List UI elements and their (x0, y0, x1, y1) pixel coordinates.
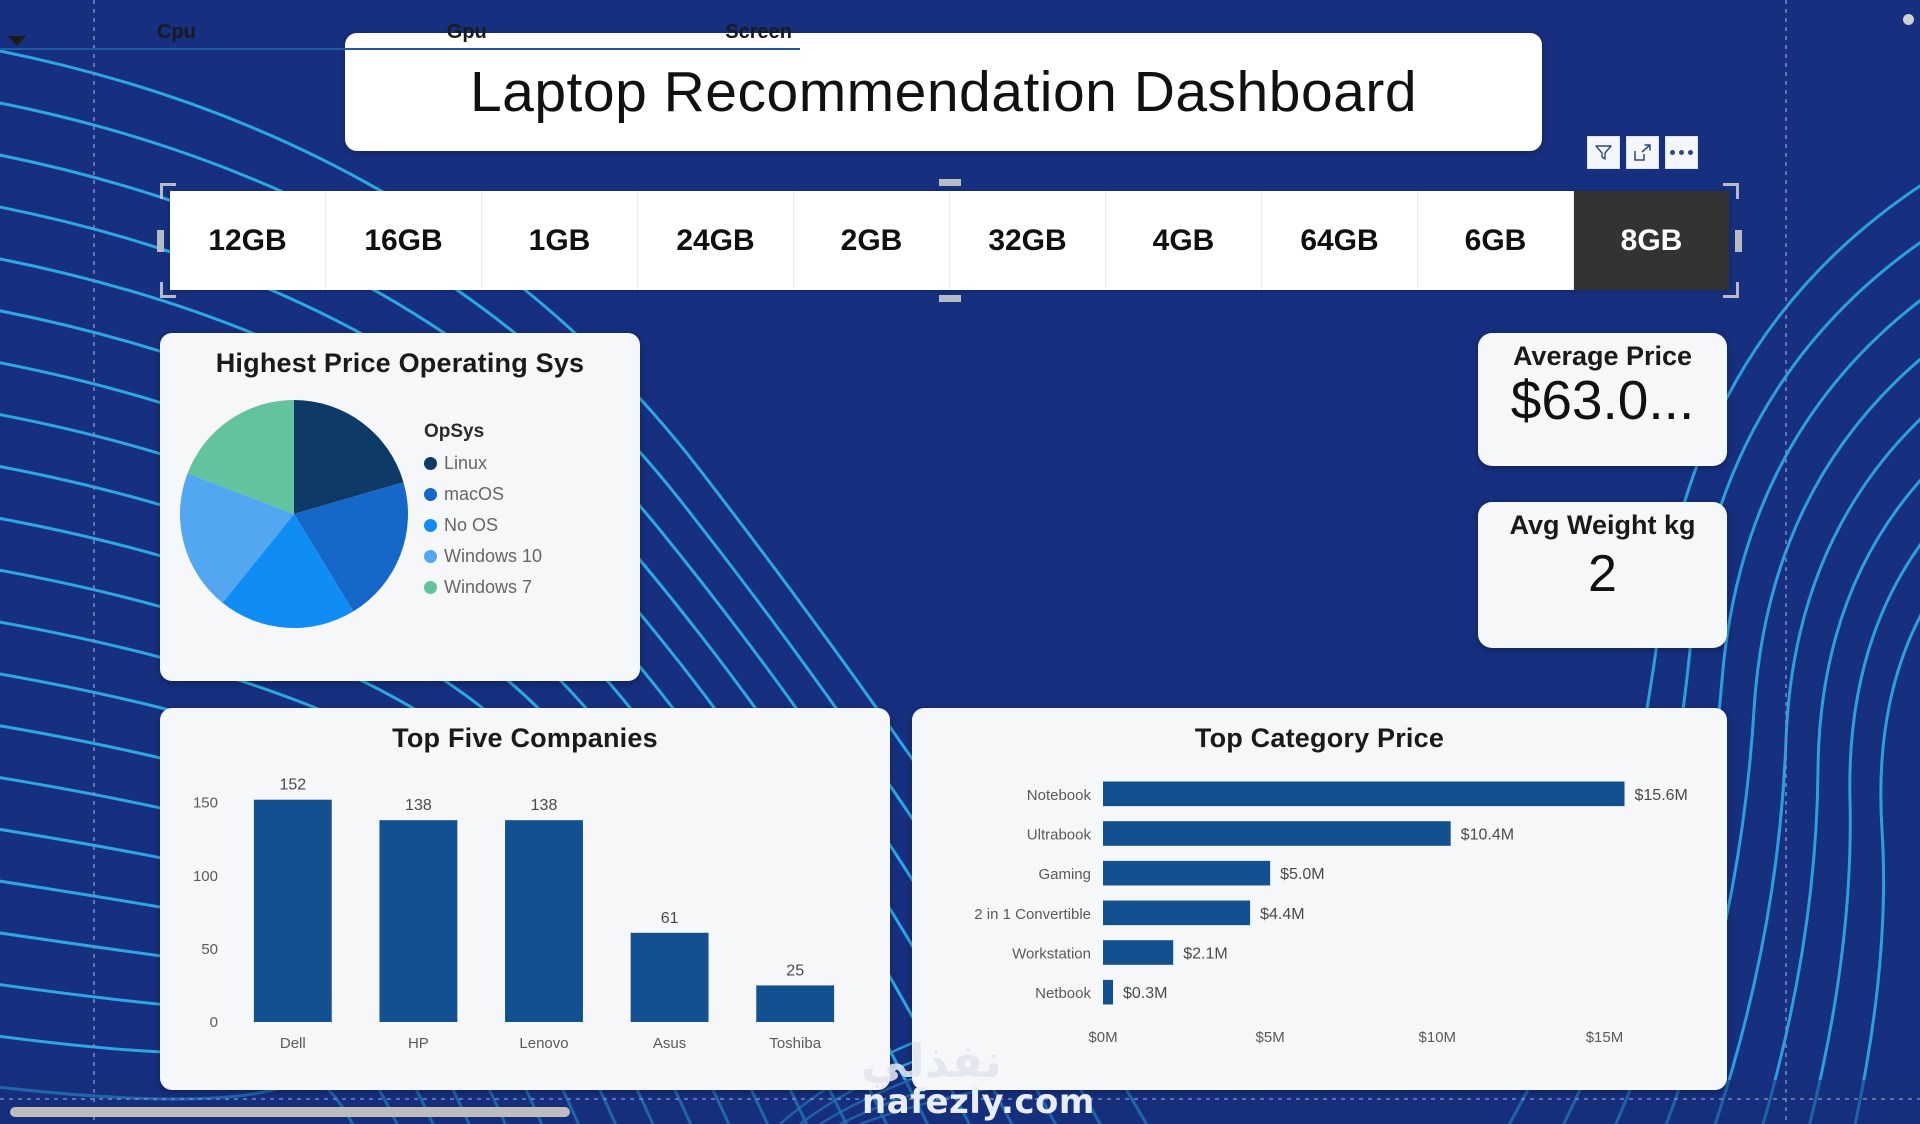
column-bar-toshiba[interactable] (756, 985, 834, 1022)
legend-item-linux[interactable]: Linux (424, 453, 542, 474)
bar-netbook[interactable] (1103, 980, 1113, 1005)
bar-workstation[interactable] (1103, 940, 1173, 965)
average-price-value: $63.0... (1478, 372, 1727, 430)
more-options-icon[interactable] (1665, 136, 1698, 169)
legend-label: Windows 10 (444, 546, 542, 567)
column-header-cpu[interactable]: Cpu (8, 21, 345, 44)
slicer-option-6gb[interactable]: 6GB (1418, 191, 1574, 290)
resize-handle-top-center[interactable] (939, 179, 961, 186)
column-data-label: 25 (786, 962, 804, 979)
page-title-card: Laptop Recommendation Dashboard (345, 33, 1542, 151)
column-bar-asus[interactable] (631, 933, 709, 1022)
slicer-option-64gb[interactable]: 64GB (1262, 191, 1418, 290)
resize-handle-top-right[interactable] (1723, 183, 1739, 199)
x-axis-tick-label: $0M (1088, 1029, 1117, 1046)
x-axis-category-label: Toshiba (769, 1035, 821, 1052)
y-axis-tick-label: 100 (193, 868, 218, 885)
resize-handle-middle-left[interactable] (157, 230, 164, 252)
average-price-label: Average Price (1478, 333, 1727, 372)
ram-slicer[interactable]: 12GB16GB1GB24GB2GB32GB4GB64GB6GB8GB (170, 191, 1729, 290)
average-price-card: Average Price $63.0... (1478, 333, 1727, 466)
column-data-label: 138 (531, 797, 558, 814)
legend-swatch-icon (424, 488, 437, 501)
column-bar-hp[interactable] (379, 820, 457, 1022)
slicer-option-32gb[interactable]: 32GB (950, 191, 1106, 290)
column-data-label: 61 (661, 910, 679, 927)
bar-data-label: $4.4M (1260, 906, 1304, 923)
slicer-option-16gb[interactable]: 16GB (326, 191, 482, 290)
y-axis-category-label: Ultrabook (1027, 827, 1092, 844)
x-axis-tick-label: $5M (1256, 1029, 1285, 1046)
resize-handle-bottom-center[interactable] (939, 295, 961, 302)
column-header-screen[interactable]: Screen (589, 21, 792, 44)
bar-data-label: $15.6M (1635, 787, 1688, 804)
legend-item-macos[interactable]: macOS (424, 484, 542, 505)
slicer-option-2gb[interactable]: 2GB (794, 191, 950, 290)
bar-notebook[interactable] (1103, 782, 1625, 807)
bar-data-label: $10.4M (1461, 827, 1514, 844)
y-axis-tick-label: 0 (210, 1014, 218, 1031)
legend-label: No OS (444, 515, 498, 536)
table-header-row: Cpu Gpu Screen (0, 0, 800, 50)
x-axis-tick-label: $10M (1419, 1029, 1457, 1046)
visual-header-toolbar (1587, 136, 1698, 169)
legend-label: macOS (444, 484, 504, 505)
legend-title: OpSys (424, 421, 542, 443)
legend-item-windows-10[interactable]: Windows 10 (424, 546, 542, 567)
pie-legend: OpSys LinuxmacOSNo OSWindows 10Windows 7 (424, 421, 542, 608)
resize-handle-top-left[interactable] (160, 183, 176, 199)
legend-label: Linux (444, 453, 487, 474)
bar-data-label: $0.3M (1123, 985, 1167, 1002)
avg-weight-value: 2 (1478, 541, 1727, 602)
column-bar-lenovo[interactable] (505, 820, 583, 1022)
bar-ultrabook[interactable] (1103, 821, 1451, 846)
column-header-gpu[interactable]: Gpu (345, 21, 589, 44)
legend-swatch-icon (424, 519, 437, 532)
x-axis-category-label: Asus (653, 1035, 686, 1052)
y-axis-tick-label: 50 (201, 941, 218, 958)
pie-chart-body: OpSys LinuxmacOSNo OSWindows 10Windows 7 (160, 379, 640, 649)
top-category-price-chart[interactable]: $15.6MNotebook$10.4MUltrabook$5.0MGaming… (918, 754, 1718, 1084)
y-axis-tick-label: 150 (193, 795, 218, 812)
top-five-companies-card: Top Five Companies 050100150152Dell138HP… (160, 708, 890, 1090)
resize-handle-bottom-right[interactable] (1723, 282, 1739, 298)
column-data-label: 138 (405, 797, 432, 814)
bar-gaming[interactable] (1103, 861, 1270, 886)
guide-line-vertical-right (1785, 0, 1787, 1124)
x-axis-category-label: Lenovo (519, 1035, 568, 1052)
top-category-price-card: Top Category Price $15.6MNotebook$10.4MU… (912, 708, 1727, 1090)
y-axis-category-label: Workstation (1012, 946, 1091, 963)
slicer-option-1gb[interactable]: 1GB (482, 191, 638, 290)
x-axis-category-label: HP (408, 1035, 429, 1052)
x-axis-category-label: Dell (280, 1035, 306, 1052)
column-data-label: 152 (279, 777, 306, 794)
resize-handle-middle-right[interactable] (1735, 230, 1742, 252)
column-bar-dell[interactable] (254, 800, 332, 1022)
bar-chart-title: Top Category Price (912, 708, 1727, 754)
watermark-arabic: نفذلي (861, 1034, 1002, 1088)
legend-label: Windows 7 (444, 577, 532, 598)
page-title: Laptop Recommendation Dashboard (470, 59, 1417, 125)
pie-chart[interactable] (178, 398, 410, 630)
legend-swatch-icon (424, 457, 437, 470)
y-axis-category-label: Notebook (1027, 787, 1092, 804)
y-axis-category-label: Gaming (1038, 866, 1091, 883)
column-chart-title: Top Five Companies (160, 708, 890, 754)
slicer-option-4gb[interactable]: 4GB (1106, 191, 1262, 290)
legend-item-no-os[interactable]: No OS (424, 515, 542, 536)
avg-weight-label: Avg Weight kg (1478, 502, 1727, 541)
resize-handle-bottom-left[interactable] (160, 282, 176, 298)
sort-dropdown-icon[interactable] (8, 36, 26, 46)
filter-icon[interactable] (1587, 136, 1620, 169)
watermark-site: nafezly.com (862, 1082, 1095, 1122)
x-axis-tick-label: $15M (1586, 1029, 1624, 1046)
bar-2-in-1-convertible[interactable] (1103, 901, 1250, 926)
y-axis-category-label: Netbook (1035, 985, 1091, 1002)
top-five-companies-chart[interactable]: 050100150152Dell138HP138Lenovo61Asus25To… (168, 754, 868, 1084)
legend-swatch-icon (424, 581, 437, 594)
slicer-option-12gb[interactable]: 12GB (170, 191, 326, 290)
highest-price-operating-sys-card: Highest Price Operating Sys OpSys Linuxm… (160, 333, 640, 681)
y-axis-category-label: 2 in 1 Convertible (974, 906, 1091, 923)
ram-slicer-container[interactable]: 12GB16GB1GB24GB2GB32GB4GB64GB6GB8GB (160, 183, 1739, 298)
legend-item-windows-7[interactable]: Windows 7 (424, 577, 542, 598)
guide-line-vertical-left (93, 0, 95, 1124)
slicer-option-8gb[interactable]: 8GB (1574, 191, 1729, 290)
dashboard-canvas: Laptop Recommendation Dashboard 12GB16GB… (0, 0, 1920, 1124)
bar-data-label: $2.1M (1183, 946, 1227, 963)
bar-data-label: $5.0M (1280, 866, 1324, 883)
avg-weight-card: Avg Weight kg 2 (1478, 502, 1727, 648)
legend-swatch-icon (424, 550, 437, 563)
pie-chart-title: Highest Price Operating Sys (160, 333, 640, 379)
focus-mode-icon[interactable] (1626, 136, 1659, 169)
slicer-option-24gb[interactable]: 24GB (638, 191, 794, 290)
